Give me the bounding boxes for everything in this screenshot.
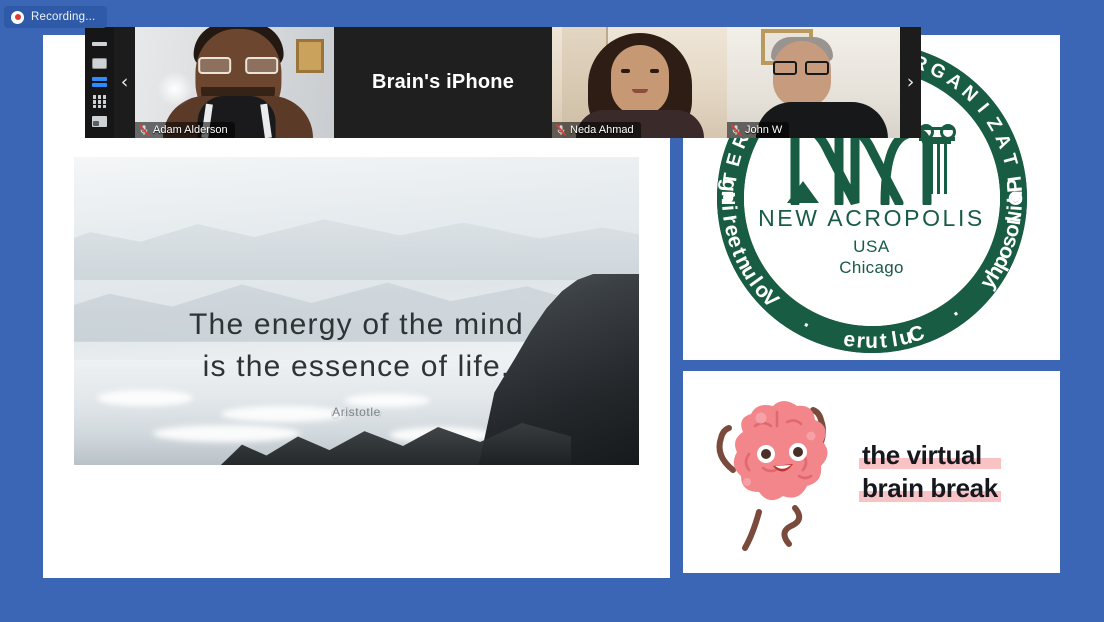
- seal-ring-character: i: [1003, 204, 1027, 212]
- brain-break-slide: the virtual brain break: [683, 371, 1060, 573]
- organization-name: NEW ACROPOLIS: [758, 207, 985, 230]
- participant-tile-adam-alderson[interactable]: Adam Alderson: [135, 27, 334, 138]
- seal-ring-character: t: [878, 329, 887, 353]
- watermark-logo-icon: [330, 410, 339, 419]
- participant-name-tag: John W: [727, 122, 789, 138]
- seal-ring-character: e: [841, 327, 856, 353]
- mic-muted-icon: [139, 124, 149, 136]
- minimize-bar-icon[interactable]: [92, 38, 107, 50]
- seal-ring-character: g: [716, 178, 741, 193]
- recording-label: Recording...: [31, 11, 95, 23]
- zoom-meeting-screen: The energy of the mind is the essence of…: [0, 0, 1104, 622]
- seal-ring-character: i: [716, 204, 740, 212]
- participant-filmstrip: ‹ Adam Alderson: [85, 27, 891, 138]
- participant-tile-brains-iphone[interactable]: Brain's iPhone: [334, 27, 552, 138]
- participant-name-tag: Adam Alderson: [135, 122, 235, 138]
- smiling-brain-icon: [703, 392, 853, 552]
- layout-controls-rail: [85, 27, 114, 138]
- prev-participants-arrow[interactable]: ‹: [114, 27, 135, 138]
- gallery-view-icon[interactable]: [92, 96, 107, 108]
- organization-country: USA: [853, 238, 890, 255]
- mic-muted-icon: [556, 124, 566, 136]
- recording-indicator[interactable]: Recording...: [4, 6, 107, 28]
- brain-break-text: the virtual brain break: [859, 441, 1001, 503]
- seal-ring-character: r: [855, 329, 865, 354]
- participant-tile-neda-ahmad[interactable]: Neda Ahmad: [552, 27, 727, 138]
- quote-watermark: quotefancy: [330, 410, 382, 419]
- seal-ring-character: ·: [797, 313, 814, 338]
- participant-name: Adam Alderson: [153, 124, 228, 136]
- seal-ring-separator-dot: [723, 193, 732, 202]
- watermark-label: quotefancy: [343, 411, 382, 418]
- organization-city: Chicago: [839, 259, 903, 276]
- participant-name: Neda Ahmad: [570, 124, 634, 136]
- quote-line-1: The energy of the mind: [189, 304, 524, 347]
- mic-muted-icon: [731, 124, 741, 136]
- virtual-brain-break-panel: the virtual brain break: [683, 371, 1060, 573]
- participant-name-tag: Neda Ahmad: [552, 122, 641, 138]
- aristotle-quote-slide: The energy of the mind is the essence of…: [74, 157, 639, 465]
- brain-break-line-1: the virtual: [859, 441, 1001, 470]
- record-dot-icon: [11, 11, 24, 24]
- participant-name: Brain's iPhone: [372, 71, 514, 94]
- side-by-side-view-icon[interactable]: [92, 76, 107, 88]
- seal-ring-character: u: [865, 330, 878, 354]
- quote-line-2: is the essence of life.: [203, 346, 511, 389]
- brain-break-line-2: brain break: [859, 474, 1001, 503]
- participant-tile-john-w[interactable]: John W: [727, 27, 900, 138]
- seal-ring-separator-dot: [1011, 193, 1020, 202]
- participant-name: John W: [745, 124, 782, 136]
- thumbnail-view-icon[interactable]: [92, 115, 107, 127]
- seal-ring-character: ·: [947, 302, 967, 326]
- speaker-view-icon[interactable]: [92, 57, 107, 69]
- next-participants-arrow[interactable]: ›: [900, 27, 921, 138]
